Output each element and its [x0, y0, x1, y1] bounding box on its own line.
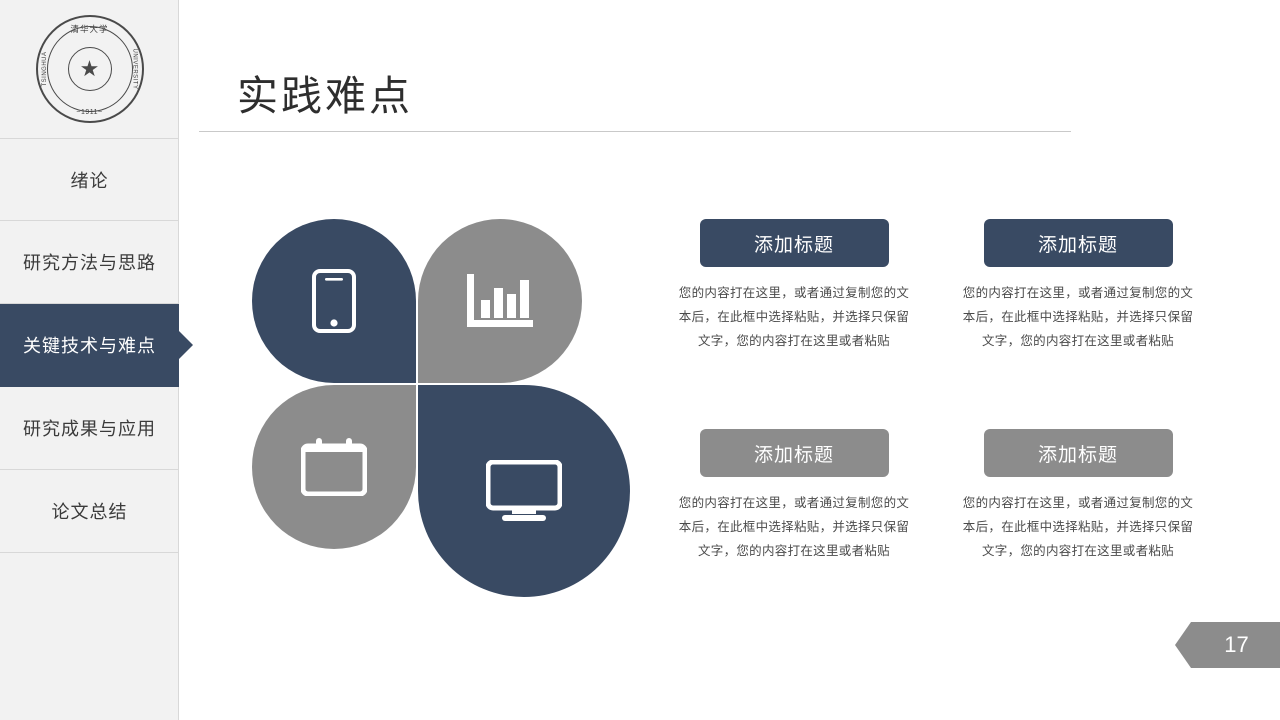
petal-graphic — [252, 219, 632, 609]
sidebar-item-label: 绪论 — [71, 167, 109, 193]
sidebar-item-methods[interactable]: 研究方法与思路 — [0, 221, 179, 304]
sidebar-item-label: 研究方法与思路 — [23, 249, 156, 275]
sidebar-item-label: 研究成果与应用 — [23, 415, 156, 441]
sidebar: 清华大学 TSINGHUA UNIVERSITY ★ ~1911~ 绪论 研究方… — [0, 0, 179, 720]
petal-chart — [418, 219, 582, 383]
petal-monitor — [418, 385, 630, 597]
sidebar-item-intro[interactable]: 绪论 — [0, 138, 179, 221]
title-divider — [199, 131, 1071, 132]
logo-inner-ring: ★ — [47, 26, 133, 112]
sidebar-item-label: 关键技术与难点 — [23, 332, 156, 358]
content-block-4: 添加标题 您的内容打在这里，或者通过复制您的文本后，在此框中选择粘贴，并选择只保… — [962, 429, 1194, 563]
block-title-button[interactable]: 添加标题 — [984, 219, 1173, 267]
sidebar-item-label: 论文总结 — [52, 498, 128, 524]
smartphone-icon — [312, 269, 356, 333]
block-title-button[interactable]: 添加标题 — [700, 429, 889, 477]
page-title: 实践难点 — [237, 62, 413, 122]
bar-chart-icon — [467, 274, 533, 328]
page-number-badge: 17 — [1175, 622, 1280, 668]
calendar-icon — [301, 438, 367, 496]
sidebar-item-results[interactable]: 研究成果与应用 — [0, 387, 179, 470]
logo-outer-ring: 清华大学 TSINGHUA UNIVERSITY ★ ~1911~ — [36, 15, 144, 123]
block-body-text: 您的内容打在这里，或者通过复制您的文本后，在此框中选择粘贴，并选择只保留文字，您… — [962, 281, 1194, 353]
monitor-icon — [486, 460, 562, 522]
content-block-3: 添加标题 您的内容打在这里，或者通过复制您的文本后，在此框中选择粘贴，并选择只保… — [678, 429, 910, 563]
block-title-button[interactable]: 添加标题 — [700, 219, 889, 267]
star-icon: ★ — [68, 47, 112, 91]
block-title-button[interactable]: 添加标题 — [984, 429, 1173, 477]
block-body-text: 您的内容打在这里，或者通过复制您的文本后，在此框中选择粘贴，并选择只保留文字，您… — [678, 491, 910, 563]
sidebar-nav: 绪论 研究方法与思路 关键技术与难点 研究成果与应用 论文总结 — [0, 138, 179, 553]
sidebar-item-summary[interactable]: 论文总结 — [0, 470, 179, 553]
block-body-text: 您的内容打在这里，或者通过复制您的文本后，在此框中选择粘贴，并选择只保留文字，您… — [678, 281, 910, 353]
university-logo: 清华大学 TSINGHUA UNIVERSITY ★ ~1911~ — [0, 0, 179, 138]
petal-smartphone — [252, 219, 416, 383]
logo-bottom-text: ~1911~ — [38, 109, 142, 116]
slide: 清华大学 TSINGHUA UNIVERSITY ★ ~1911~ 绪论 研究方… — [0, 0, 1280, 720]
sidebar-item-key-tech[interactable]: 关键技术与难点 — [0, 304, 179, 387]
content-block-1: 添加标题 您的内容打在这里，或者通过复制您的文本后，在此框中选择粘贴，并选择只保… — [678, 219, 910, 353]
petal-calendar — [252, 385, 416, 549]
block-body-text: 您的内容打在这里，或者通过复制您的文本后，在此框中选择粘贴，并选择只保留文字，您… — [962, 491, 1194, 563]
content-block-2: 添加标题 您的内容打在这里，或者通过复制您的文本后，在此框中选择粘贴，并选择只保… — [962, 219, 1194, 353]
